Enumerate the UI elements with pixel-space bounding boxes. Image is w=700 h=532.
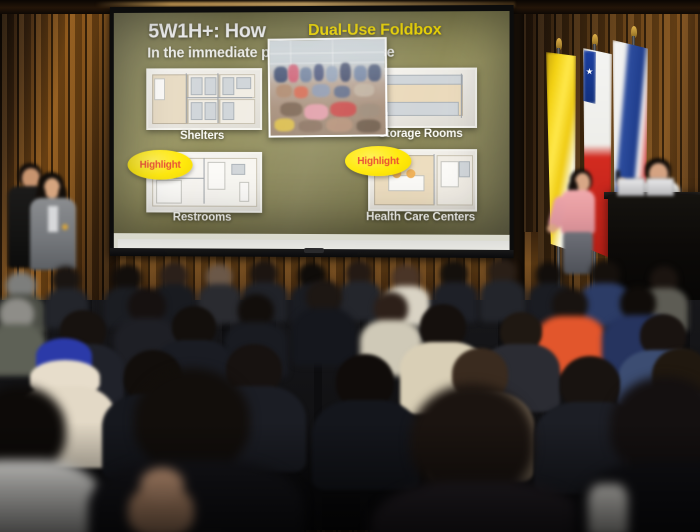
evacuation-shelter-photo <box>268 37 388 138</box>
highlight-badge-label: Highlight <box>357 156 399 167</box>
projected-slide: 5W1H+: How Dual-Use Foldbox In the immed… <box>114 11 510 235</box>
projection-screen: 5W1H+: How Dual-Use Foldbox In the immed… <box>110 5 514 257</box>
screen-surface: 5W1H+: How Dual-Use Foldbox In the immed… <box>114 11 510 250</box>
badge-pin-icon <box>62 224 68 230</box>
highlight-badge-label: Highlight <box>140 159 181 170</box>
highlight-badge-health-care: Highlight <box>345 146 411 176</box>
screen-weight-bar-nub-icon <box>304 248 324 253</box>
health-care-centers-card-caption: Health Care Centers <box>352 211 489 224</box>
slide-title: 5W1H+: How <box>148 20 266 43</box>
shelters-card-caption: Shelters <box>146 130 258 142</box>
presentation-photo-scene: 5W1H+: How Dual-Use Foldbox In the immed… <box>0 0 700 532</box>
restrooms-card-caption: Restrooms <box>146 211 258 223</box>
laptop-left <box>617 178 645 196</box>
laptop-right <box>646 178 674 196</box>
highlight-badge-restrooms: Highlight <box>128 150 193 180</box>
shelters-card <box>146 68 262 130</box>
audience <box>0 258 700 532</box>
